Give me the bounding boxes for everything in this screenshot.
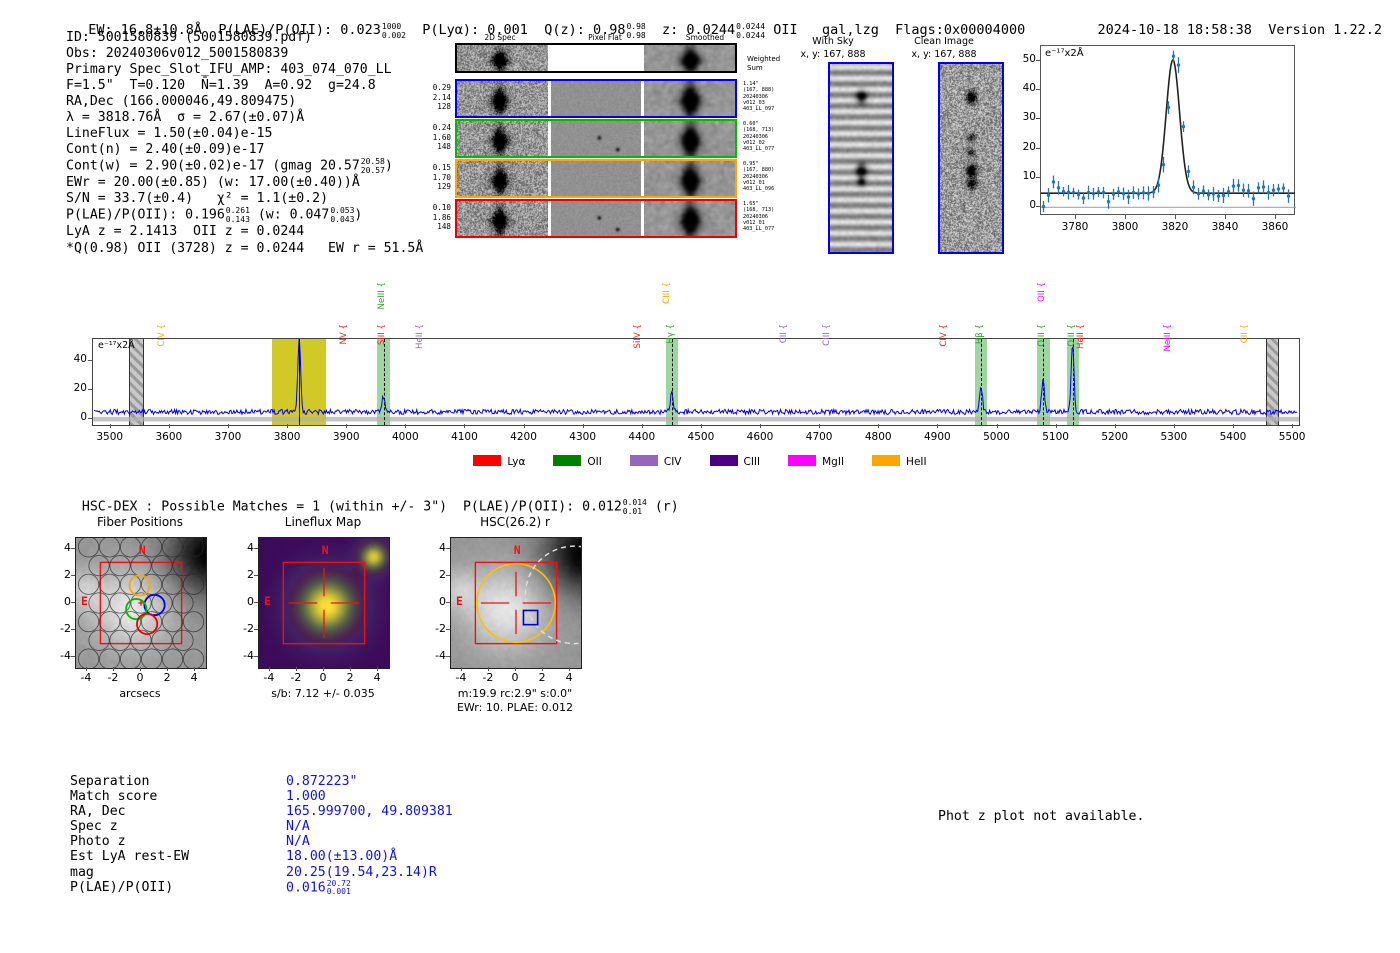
line-profile-svg xyxy=(1041,46,1296,216)
param-cont-w: Cont(w) = 2.90(±0.02)e-17 (gmag 20.5720.… xyxy=(66,158,423,175)
legend-swatch xyxy=(788,455,816,466)
cont-w-frac: 20.5820.57 xyxy=(361,158,385,175)
legend-swatch xyxy=(630,455,658,466)
legend-swatch xyxy=(553,455,581,466)
match-table-value: N/A xyxy=(286,819,453,834)
panel-xtick-fiber: -4 xyxy=(76,671,96,684)
spectrum-line-label: OIII { xyxy=(1037,324,1047,347)
legend-label: HeII xyxy=(906,456,927,468)
parameter-block: ID: 5001580839 (5001580839.pdf) Obs: 202… xyxy=(66,30,423,257)
header-version: Version 1.22.2 xyxy=(1268,22,1382,38)
match-table-key: Photo z xyxy=(70,834,189,849)
cutout-subtitle-clean: x, y: 167, 888 xyxy=(884,49,1004,60)
spec2d-row-meta: 1.65" (168, 713) 20240306 v012_01 403_LL… xyxy=(743,201,774,232)
panel-ytick-lineflux: -2 xyxy=(232,622,254,635)
panel-ytick-lineflux: -4 xyxy=(232,649,254,662)
match-table-key: Est LyA rest-EW xyxy=(70,849,189,864)
param-seeing: F=1.5" T=0.120 N̄=1.39 A=0.92 g=24.8 xyxy=(66,78,423,94)
match-table-values: 0.872223"1.000165.999700, 49.809381N/AN/… xyxy=(286,774,453,895)
hscdex-text: HSC-DEX : Possible Matches = 1 (within +… xyxy=(82,500,622,515)
spec2d-strip xyxy=(455,199,737,238)
smoothed-image xyxy=(644,45,735,71)
spectrum-line-label: CIV { xyxy=(157,324,167,347)
spec2d-strip xyxy=(455,79,737,118)
param-cont-n: Cont(n) = 2.40(±0.09)e-17 xyxy=(66,142,423,158)
spectrum-xtick: 5300 xyxy=(1148,431,1200,443)
panel-xtick-lineflux: 0 xyxy=(313,671,333,684)
panel-xtick-hsc: 0 xyxy=(505,671,525,684)
param-plae: P(LAE)/P(OII): 0.1960.2610.143 (w: 0.047… xyxy=(66,207,423,224)
pixel-flat-image xyxy=(551,81,642,116)
legend-swatch xyxy=(473,455,501,466)
pixel-flat-image xyxy=(551,161,642,196)
col-title-smoothed: Smoothed xyxy=(650,33,760,42)
spectrum-line-marker xyxy=(384,339,385,425)
spectrum-line-label: HeII { xyxy=(415,324,425,349)
spectrum-svg xyxy=(93,339,1299,425)
line-profile-ytick: 50 xyxy=(1006,53,1036,65)
spectrum-xtick: 5400 xyxy=(1207,431,1259,443)
panel-ytick-lineflux: 2 xyxy=(232,568,254,581)
panel-caption-lineflux: s/b: 7.12 +/- 0.035 xyxy=(213,687,433,700)
spectrum-line-label: HeII { xyxy=(1076,324,1086,349)
line-profile-ytick: 0 xyxy=(1006,199,1036,211)
legend-label: CIII xyxy=(744,456,761,468)
compass-north-fiber: N xyxy=(139,543,146,557)
compass-north-lineflux: N xyxy=(322,543,329,557)
panel-caption-hsc: EWr: 10. PLAE: 0.012 xyxy=(405,701,625,714)
spectrum-line-label: NV { xyxy=(339,324,349,345)
match-table-value: 20.25(19.54,23.14)R xyxy=(286,865,453,880)
cutout-title-withsky: With Sky xyxy=(773,36,893,47)
panel-ytick-lineflux: 4 xyxy=(232,541,254,554)
panel-ytick-fiber: 2 xyxy=(49,568,71,581)
cutout-clean-image xyxy=(938,62,1004,254)
panel-overlay-lineflux xyxy=(259,538,389,668)
smoothed-image xyxy=(644,161,735,196)
match-table-value: N/A xyxy=(286,834,453,849)
spectrum-units: e⁻¹⁷x2Å xyxy=(98,340,135,351)
spectrum-line-label: NeIII { xyxy=(377,282,387,310)
param-lineflux: LineFlux = 1.50(±0.04)e-15 xyxy=(66,126,423,142)
legend-label: Lyα xyxy=(507,456,525,468)
spectrum-xtick: 4300 xyxy=(557,431,609,443)
spec2d-strip xyxy=(455,43,737,73)
panel-xtick-fiber: 4 xyxy=(184,671,204,684)
spectrum-xtick: 4100 xyxy=(438,431,490,443)
spectrum-xtick: 4500 xyxy=(675,431,727,443)
legend-label: MgII xyxy=(822,456,844,468)
compass-east-fiber: E xyxy=(81,594,88,608)
spec2d-row-meta: 0.95" (167, 880) 20240306 v012_01 403_LL… xyxy=(743,161,774,192)
param-id: ID: 5001580839 (5001580839.pdf) xyxy=(66,30,423,46)
spectrum-line-label: OII { xyxy=(1037,282,1047,302)
line-profile-xtick: 3780 xyxy=(1051,221,1099,233)
cutout-title-clean: Clean Image xyxy=(884,36,1004,47)
panel-caption-hsc: m:19.9 rc:2.9" s:0.0" xyxy=(405,687,625,700)
spectrum-line-label: Hγ { xyxy=(666,324,676,344)
panel-xtick-hsc: -4 xyxy=(451,671,471,684)
line-profile-ytick: 20 xyxy=(1006,141,1036,153)
match-table-value: 18.00(±13.00)Å xyxy=(286,849,453,864)
param-ewr: EWr = 20.00(±0.85) (w: 17.00(±0.40))Å xyxy=(66,175,423,191)
legend-item: Lyα xyxy=(473,455,525,468)
line-profile-xtick: 3800 xyxy=(1101,221,1149,233)
match-table-value: 1.000 xyxy=(286,789,453,804)
spectrum-xtick: 4400 xyxy=(616,431,668,443)
col-title-pixelflat: Pixel Flat xyxy=(550,33,660,42)
panel-xtick-lineflux: -4 xyxy=(259,671,279,684)
legend-swatch xyxy=(710,455,738,466)
spectrum-xtick: 3900 xyxy=(320,431,372,443)
spectrum-line-label: NeIII { xyxy=(1163,324,1173,352)
pixel-flat-image xyxy=(551,45,642,71)
spectrum-xtick: 4700 xyxy=(793,431,845,443)
param-radec: RA,Dec (166.000046,49.809475) xyxy=(66,94,423,110)
spectrum-xtick: 5000 xyxy=(971,431,1023,443)
panel-ytick-fiber: -2 xyxy=(49,622,71,635)
full-spectrum-panel: e⁻¹⁷x2Å 02040350036003700380039004000410… xyxy=(0,330,1400,460)
header-meta: 2024-10-18 18:58:38 Version 1.22.2 xyxy=(1081,6,1382,38)
spectrum-legend: LyαOIICIVCIIIMgIIHeII xyxy=(0,455,1400,468)
line-profile-xtick: 3820 xyxy=(1151,221,1199,233)
match-table-key: Separation xyxy=(70,774,189,789)
line-profile-axes: e⁻¹⁷x2Å xyxy=(1040,45,1295,215)
spec2d-row-stats: 0.10 1.86 148 xyxy=(413,203,451,232)
spec2d-image xyxy=(457,121,548,156)
compass-north-hsc: N xyxy=(514,543,521,557)
param-obs: Obs: 20240306v012_5001580839 xyxy=(66,46,423,62)
line-profile-units: e⁻¹⁷x2Å xyxy=(1045,48,1084,59)
spec2d-image xyxy=(457,45,548,71)
panel-xtick-fiber: -2 xyxy=(103,671,123,684)
spectrum-line-marker xyxy=(1073,339,1074,425)
line-profile-xtick: 3840 xyxy=(1201,221,1249,233)
spec2d-row-stats: 0.24 1.60 148 xyxy=(413,123,451,152)
spec2d-row-stats: 0.29 2.14 128 xyxy=(413,83,451,112)
hscdex-frac: 0.0140.01 xyxy=(623,499,647,516)
spectrum-xtick: 4800 xyxy=(852,431,904,443)
spectrum-xtick: 5500 xyxy=(1266,431,1318,443)
pixel-flat-image xyxy=(551,121,642,156)
match-table-keys: SeparationMatch scoreRA, DecSpec zPhoto … xyxy=(70,774,189,895)
spectrum-xtick: 4900 xyxy=(911,431,963,443)
legend-item: OII xyxy=(553,455,601,468)
legend-label: CIV xyxy=(664,456,682,468)
match-table-key: RA, Dec xyxy=(70,804,189,819)
match-table-key: mag xyxy=(70,865,189,880)
spectrum-xtick: 4600 xyxy=(734,431,786,443)
spec2d-image xyxy=(457,201,548,236)
panel-ytick-hsc: -2 xyxy=(424,622,446,635)
spectrum-xtick: 3600 xyxy=(143,431,195,443)
panel-title-hsc: HSC(26.2) r xyxy=(430,515,600,529)
smoothed-image xyxy=(644,121,735,156)
panel-overlay-hsc xyxy=(451,538,581,668)
spectrum-xtick: 5200 xyxy=(1089,431,1141,443)
panel-xtick-hsc: 4 xyxy=(559,671,579,684)
header-timestamp: 2024-10-18 18:58:38 xyxy=(1098,22,1252,38)
cutout-subtitle-withsky: x, y: 167, 888 xyxy=(773,49,893,60)
line-profile-ytick: 40 xyxy=(1006,82,1036,94)
spectrum-ytick: 0 xyxy=(58,411,87,423)
spec2d-strip xyxy=(455,119,737,158)
panel-ytick-hsc: 0 xyxy=(424,595,446,608)
legend-item: HeII xyxy=(872,455,927,468)
spectrum-line-label: SiII { xyxy=(377,324,387,345)
compass-east-hsc: E xyxy=(456,594,463,608)
spectrum-line-label: SiIV { xyxy=(633,324,643,348)
param-primary-spec: Primary Spec_Slot_IFU_AMP: 403_074_070_L… xyxy=(66,62,423,78)
line-profile-plot: e⁻¹⁷x2Å0102030405037803800382038403860 xyxy=(1040,45,1305,245)
spectrum-xtick: 3500 xyxy=(84,431,136,443)
spectrum-ytick: 20 xyxy=(58,382,87,394)
param-q-solution: *Q(0.98) OII (3728) z = 0.0244 EW r = 51… xyxy=(66,241,423,257)
spectrum-line-marker xyxy=(1043,339,1044,425)
spectrum-axes: e⁻¹⁷x2Å xyxy=(92,338,1300,426)
line-profile-ytick: 30 xyxy=(1006,111,1036,123)
legend-item: CIII xyxy=(710,455,761,468)
spectrum-line-label: CII { xyxy=(779,324,789,343)
panel-ytick-fiber: 4 xyxy=(49,541,71,554)
spectrum-line-label: CIV { xyxy=(939,324,949,347)
panel-xtick-lineflux: 4 xyxy=(367,671,387,684)
panel-ytick-lineflux: 0 xyxy=(232,595,254,608)
line-profile-xtick: 3860 xyxy=(1251,221,1299,233)
panel-ytick-hsc: 2 xyxy=(424,568,446,581)
smoothed-image xyxy=(644,201,735,236)
panel-ytick-fiber: 0 xyxy=(49,595,71,608)
match-table-key: P(LAE)/P(OII) xyxy=(70,880,189,895)
spectrum-ytick: 40 xyxy=(58,353,87,365)
spec2d-image xyxy=(457,161,548,196)
spec2d-image xyxy=(457,81,548,116)
spectrum-line-marker xyxy=(672,339,673,425)
plae-frac: 0.2610.143 xyxy=(226,207,250,224)
spectrum-primary-marker xyxy=(299,339,300,425)
match-table-key: Spec z xyxy=(70,819,189,834)
match-table-value: 0.01620.720.001 xyxy=(286,880,453,895)
spectrum-xtick: 3800 xyxy=(261,431,313,443)
spectrum-line-label: CIII { xyxy=(822,324,832,346)
panel-xtick-lineflux: 2 xyxy=(340,671,360,684)
match-table-plae-frac: 20.720.001 xyxy=(327,880,351,897)
panel-ytick-hsc: 4 xyxy=(424,541,446,554)
spectrum-xtick: 4000 xyxy=(379,431,431,443)
panel-xtick-hsc: -2 xyxy=(478,671,498,684)
match-table-key: Match score xyxy=(70,789,189,804)
pixel-flat-image xyxy=(551,201,642,236)
spec2d-row-stats: 0.15 1.70 129 xyxy=(413,163,451,192)
panel-xtick-fiber: 0 xyxy=(130,671,150,684)
param-redshifts: LyA z = 2.1413 OII z = 0.0244 xyxy=(66,224,423,240)
panel-ytick-fiber: -4 xyxy=(49,649,71,662)
smoothed-image xyxy=(644,81,735,116)
legend-swatch xyxy=(872,455,900,466)
hscdex-summary: HSC-DEX : Possible Matches = 1 (within +… xyxy=(66,484,679,516)
panel-xtick-fiber: 2 xyxy=(157,671,177,684)
photz-message: Phot z plot not available. xyxy=(938,809,1144,824)
match-table-value: 0.872223" xyxy=(286,774,453,789)
legend-label: OII xyxy=(587,456,601,468)
panel-title-lineflux: Lineflux Map xyxy=(238,515,408,529)
panel-xtick-hsc: 2 xyxy=(532,671,552,684)
spectrum-line-label: CII { xyxy=(1240,324,1250,343)
col-title-2dspec: 2D Spec xyxy=(445,33,555,42)
param-lambda-sigma: λ = 3818.76Å σ = 2.67(±0.07)Å xyxy=(66,110,423,126)
spec2d-row-meta: 1.14" (167, 888) 20240306 v012_03 403_LL… xyxy=(743,81,774,112)
spectrum-line-label: CIII { xyxy=(662,282,672,304)
spectrum-xtick: 5100 xyxy=(1030,431,1082,443)
spectrum-line-label: Hβ { xyxy=(975,324,985,344)
spectrum-xtick: 3700 xyxy=(202,431,254,443)
spectrum-line-marker xyxy=(981,339,982,425)
plae-w-frac: 0.0530.043 xyxy=(330,207,354,224)
spec2d-strip xyxy=(455,159,737,198)
panel-xtick-lineflux: -2 xyxy=(286,671,306,684)
compass-east-lineflux: E xyxy=(264,594,271,608)
cutout-with-sky xyxy=(828,62,894,254)
legend-item: CIV xyxy=(630,455,682,468)
spec2d-row-meta: 0.60" (168, 713) 20240306 v012_02 403_LL… xyxy=(743,121,774,152)
param-snr-chi2: S/N = 33.7(±0.4) χ² = 1.1(±0.2) xyxy=(66,191,423,207)
panel-ytick-hsc: -4 xyxy=(424,649,446,662)
match-table-value: 165.999700, 49.809381 xyxy=(286,804,453,819)
spectrum-xtick: 4200 xyxy=(498,431,550,443)
legend-item: MgII xyxy=(788,455,844,468)
panel-title-fiber: Fiber Positions xyxy=(55,515,225,529)
panel-overlay-fiber xyxy=(76,538,206,668)
hscdex-band: (r) xyxy=(655,500,679,515)
line-profile-ytick: 10 xyxy=(1006,170,1036,182)
